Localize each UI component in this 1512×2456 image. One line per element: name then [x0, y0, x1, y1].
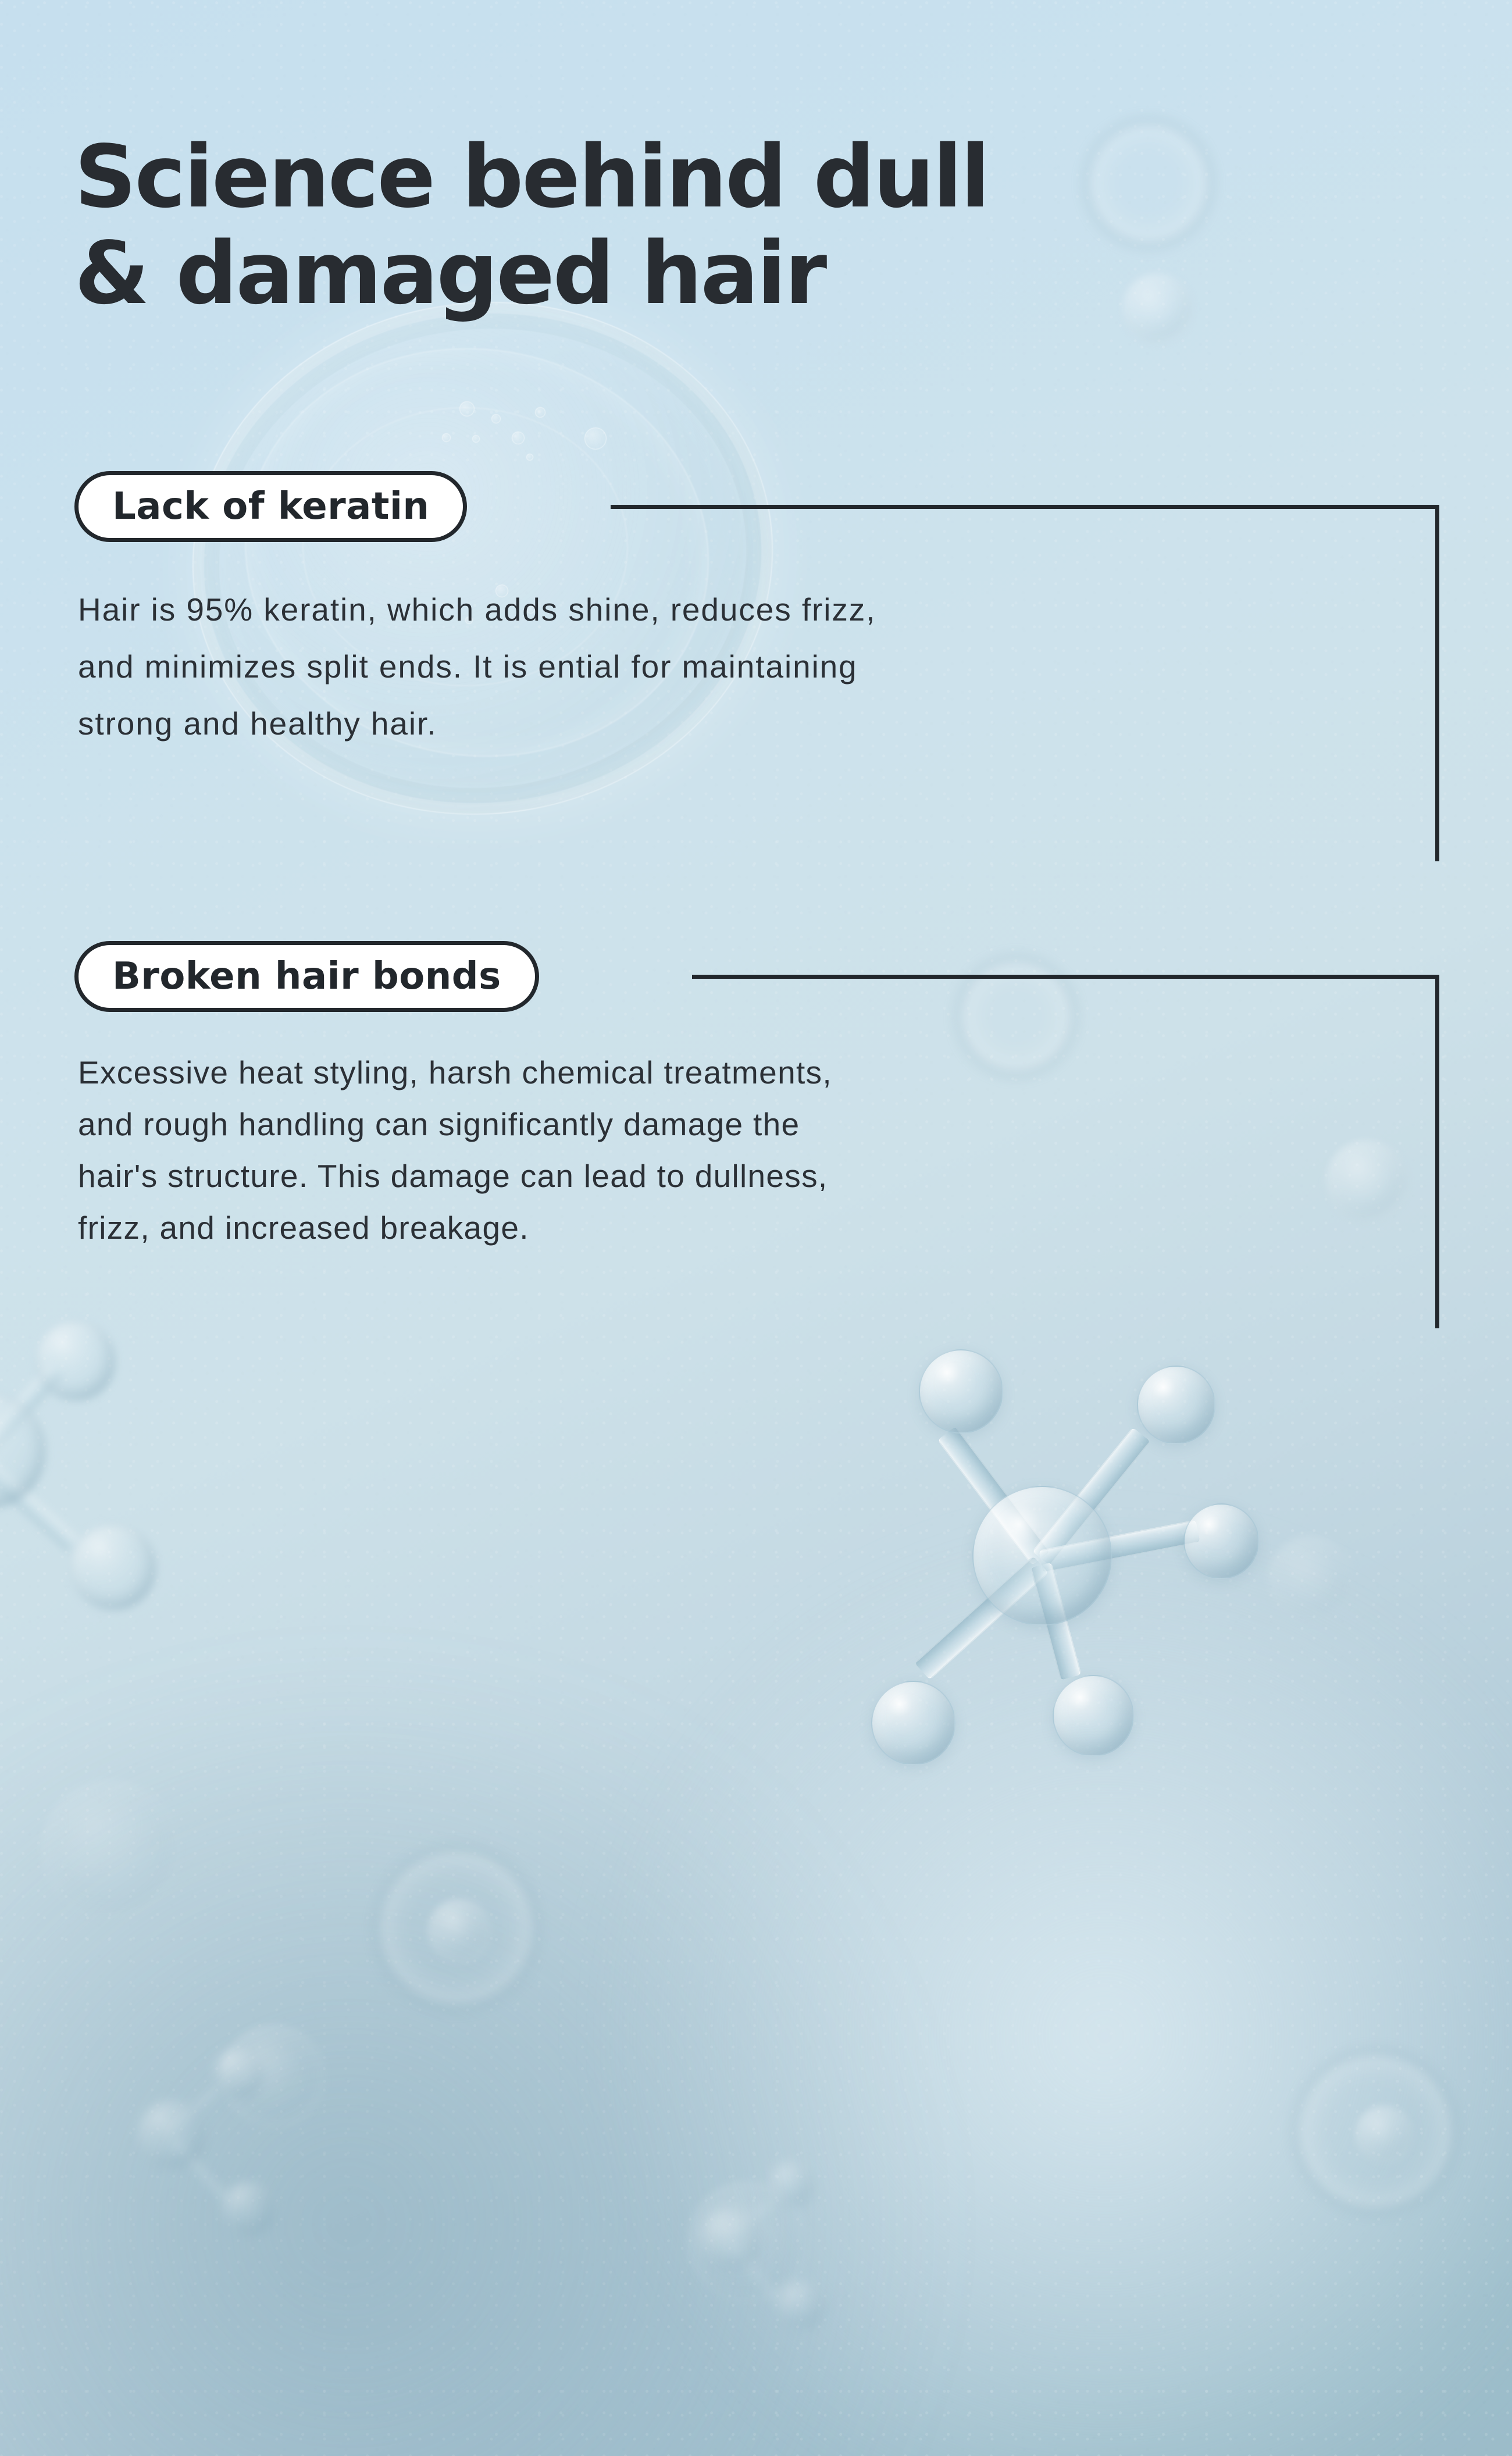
- connector-line-1-horizontal: [611, 505, 1439, 509]
- section-2-body: Excessive heat styling, harsh chemical t…: [78, 1047, 1433, 1254]
- badge-broken-hair-bonds[interactable]: Broken hair bonds: [74, 941, 539, 1012]
- page-title: Science behind dull & damaged hair: [74, 129, 1179, 322]
- badge-label: Lack of keratin: [112, 485, 429, 528]
- section-1-body: Hair is 95% keratin, which adds shine, r…: [78, 582, 1433, 753]
- connector-line-2-vertical: [1435, 975, 1439, 1328]
- connector-line-1-vertical: [1435, 505, 1439, 861]
- badge-lack-of-keratin[interactable]: Lack of keratin: [74, 471, 467, 542]
- connector-line-2-horizontal: [692, 975, 1439, 979]
- poster-background: Science behind dull & damaged hair Lack …: [0, 0, 1512, 2456]
- badge-label: Broken hair bonds: [112, 955, 501, 998]
